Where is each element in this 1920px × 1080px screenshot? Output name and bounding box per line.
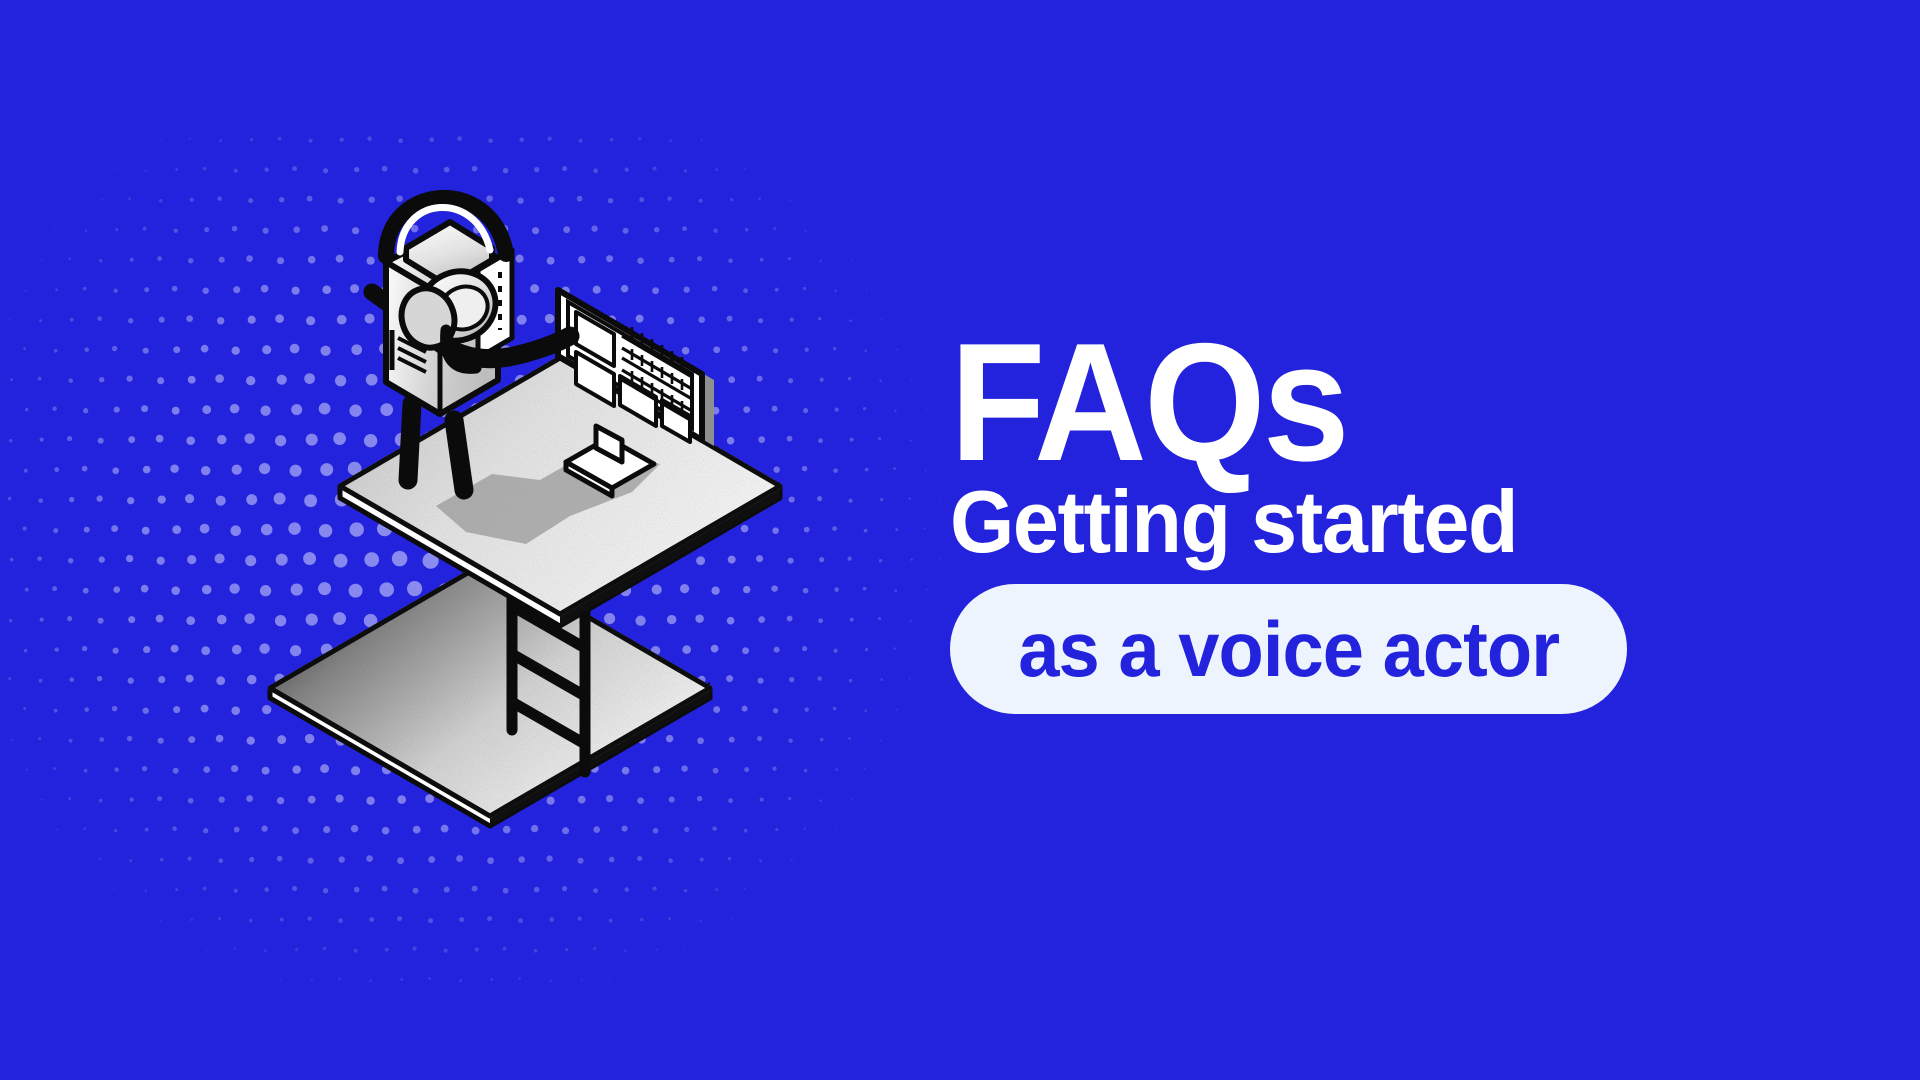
status-badge: as a voice actor <box>950 584 1627 714</box>
hero-text-block: FAQs Getting started as a voice actor <box>950 330 1830 714</box>
hero-banner: FAQs Getting started as a voice actor <box>0 0 1920 1080</box>
lower-platform <box>270 560 710 826</box>
status-badge-label: as a voice actor <box>1018 610 1559 688</box>
hero-subtitle: Getting started <box>950 478 1777 566</box>
isometric-voice-actor-illustration <box>240 190 800 870</box>
page-title: FAQs <box>950 330 1768 474</box>
